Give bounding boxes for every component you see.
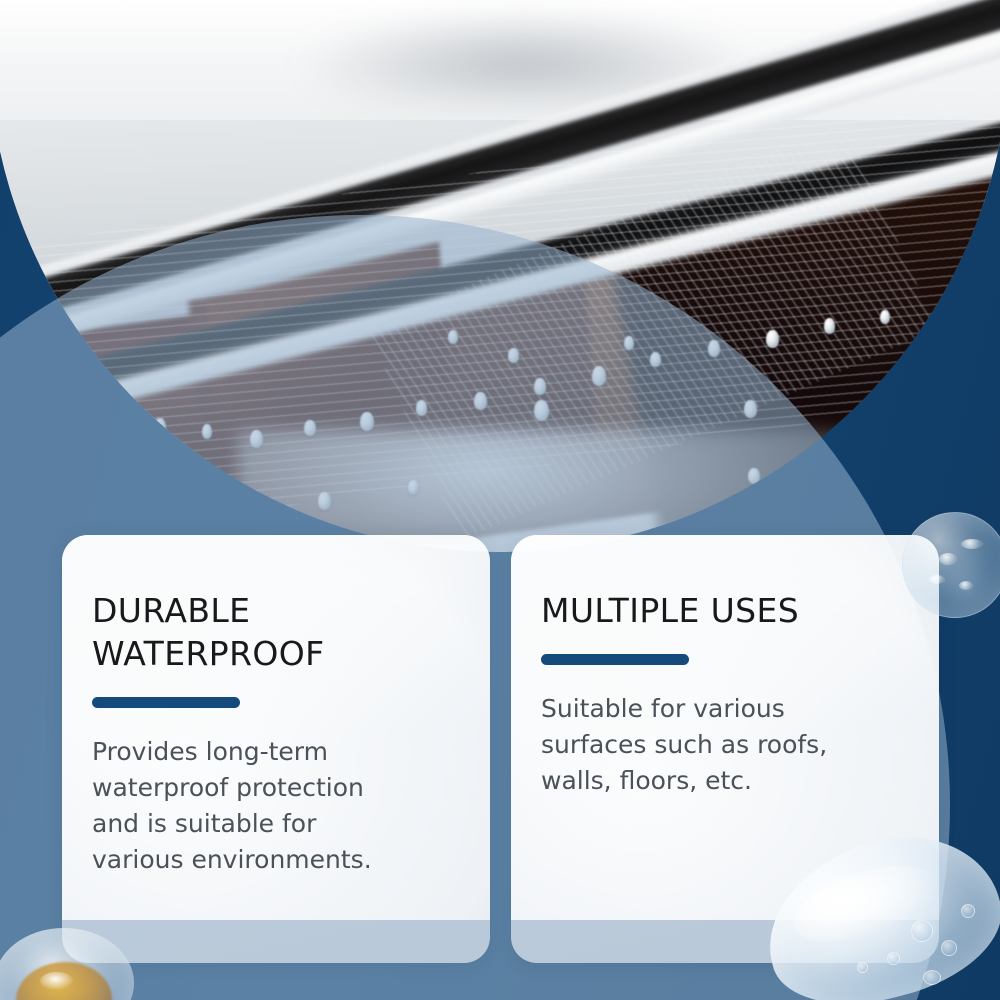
feature-card-durable-waterproof[interactable]: DURABLE WATERPROOF Provides long-term wa… [62, 535, 490, 963]
water-bubble-icon [902, 512, 1000, 618]
bubble-specular [929, 575, 945, 584]
card-title: DURABLE WATERPROOF [92, 589, 462, 675]
amber-highlight [40, 972, 74, 990]
card-body: DURABLE WATERPROOF Provides long-term wa… [62, 535, 490, 878]
bubble-specular [961, 539, 983, 549]
feature-card-group: DURABLE WATERPROOF Provides long-term wa… [0, 0, 1000, 1000]
accent-bar [92, 697, 240, 708]
card-title: MULTIPLE USES [541, 589, 911, 632]
bubble-specular [959, 581, 973, 590]
accent-bar [541, 654, 689, 665]
feature-card-multiple-uses[interactable]: MULTIPLE USES Suitable for various surfa… [511, 535, 939, 963]
card-description: Provides long-term waterproof protection… [92, 734, 462, 878]
card-description: Suitable for various surfaces such as ro… [541, 691, 911, 799]
product-feature-banner: DURABLE WATERPROOF Provides long-term wa… [0, 0, 1000, 1000]
card-body: MULTIPLE USES Suitable for various surfa… [511, 535, 939, 799]
bubble-specular [939, 553, 957, 565]
